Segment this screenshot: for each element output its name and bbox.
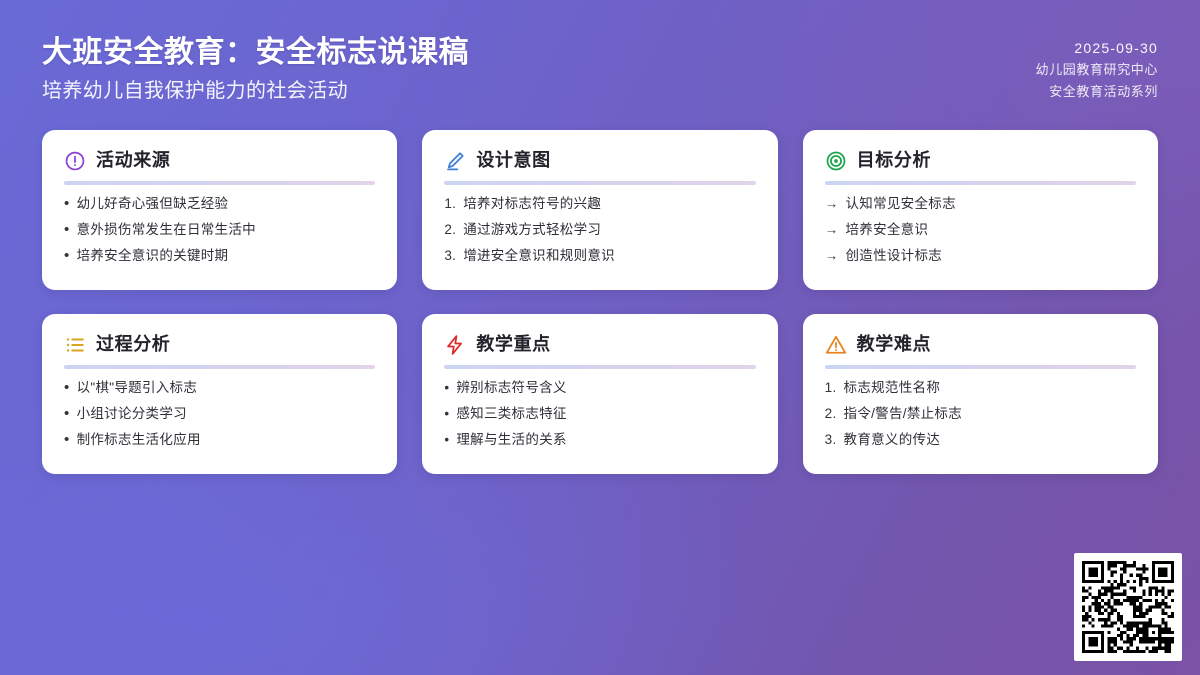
card-teaching-difficulty: 教学难点1.标志规范性名称2.指令/警告/禁止标志3.教育意义的传达 <box>803 314 1158 474</box>
list-item-text: 理解与生活的关系 <box>456 432 755 449</box>
list-item: 1.培养对标志符号的兴趣 <box>444 196 755 213</box>
card-divider <box>825 181 1136 185</box>
card-title: 目标分析 <box>857 151 931 171</box>
list-item-marker: • <box>444 432 449 449</box>
list-item-text: 培养对标志符号的兴趣 <box>463 196 755 213</box>
list-item-text: 教育意义的传达 <box>844 432 1136 449</box>
list-item-text: 小组讨论分类学习 <box>77 406 376 423</box>
list-item-text: 创造性设计标志 <box>845 248 1136 265</box>
list-item: •小组讨论分类学习 <box>64 406 375 423</box>
card-header: 过程分析 <box>64 334 375 356</box>
list-item-marker: • <box>64 380 70 395</box>
card-title: 活动来源 <box>96 151 170 171</box>
header-date: 2025-09-30 <box>1036 40 1158 56</box>
list-item-marker: • <box>64 432 70 447</box>
list-item-marker: 3. <box>444 248 456 265</box>
card-goal-analysis: 目标分析→认知常见安全标志→培养安全意识→创造性设计标志 <box>803 130 1158 290</box>
list-item-text: 增进安全意识和规则意识 <box>463 248 755 265</box>
card-activity-source: 活动来源•幼儿好奇心强但缺乏经验•意外损伤常发生在日常生活中•培养安全意识的关键… <box>42 130 397 290</box>
list-item-marker: 1. <box>825 380 837 397</box>
list-item: •以"棋"导题引入标志 <box>64 380 375 397</box>
list-item-text: 培养安全意识 <box>845 222 1136 239</box>
header-meta-block: 2025-09-30 幼儿园教育研究中心 安全教育活动系列 <box>1036 34 1158 100</box>
list-item-text: 指令/警告/禁止标志 <box>844 406 1136 423</box>
pencil-edit-icon <box>444 150 466 172</box>
card-divider <box>444 181 755 185</box>
list-item-text: 标志规范性名称 <box>844 380 1136 397</box>
card-list: 1.标志规范性名称2.指令/警告/禁止标志3.教育意义的传达 <box>825 380 1136 449</box>
list-item-text: 感知三类标志特征 <box>456 406 755 423</box>
list-item: 2.指令/警告/禁止标志 <box>825 406 1136 423</box>
card-divider <box>444 365 755 369</box>
header-organization: 幼儿园教育研究中心 <box>1036 59 1158 78</box>
list-item: •感知三类标志特征 <box>444 406 755 423</box>
target-bullseye-icon <box>825 150 847 172</box>
list-item-text: 意外损伤常发生在日常生活中 <box>77 222 376 239</box>
slide-header: 大班安全教育：安全标志说课稿 培养幼儿自我保护能力的社会活动 2025-09-3… <box>0 0 1200 104</box>
list-item: 2.通过游戏方式轻松学习 <box>444 222 755 239</box>
list-item-marker: 1. <box>444 196 456 213</box>
qr-code[interactable] <box>1074 553 1182 661</box>
list-item-text: 幼儿好奇心强但缺乏经验 <box>77 196 376 213</box>
page-title: 大班安全教育：安全标志说课稿 <box>42 34 469 72</box>
list-item: •制作标志生活化应用 <box>64 432 375 449</box>
page-subtitle: 培养幼儿自我保护能力的社会活动 <box>42 78 469 104</box>
card-header: 教学重点 <box>444 334 755 356</box>
list-item-text: 通过游戏方式轻松学习 <box>463 222 755 239</box>
header-series: 安全教育活动系列 <box>1036 81 1158 100</box>
list-item-marker: → <box>825 196 839 213</box>
list-item-text: 认知常见安全标志 <box>845 196 1136 213</box>
list-item-marker: • <box>64 248 70 263</box>
list-item-marker: 2. <box>825 406 837 423</box>
header-title-block: 大班安全教育：安全标志说课稿 培养幼儿自我保护能力的社会活动 <box>42 34 469 104</box>
card-list: →认知常见安全标志→培养安全意识→创造性设计标志 <box>825 196 1136 265</box>
list-item-marker: → <box>825 248 839 265</box>
card-list: •以"棋"导题引入标志•小组讨论分类学习•制作标志生活化应用 <box>64 380 375 449</box>
warning-triangle-icon <box>825 334 847 356</box>
list-item-text: 辨别标志符号含义 <box>456 380 755 397</box>
list-item: 3.增进安全意识和规则意识 <box>444 248 755 265</box>
card-header: 设计意图 <box>444 150 755 172</box>
card-divider <box>64 365 375 369</box>
list-item: •培养安全意识的关键时期 <box>64 248 375 265</box>
list-item-marker: • <box>444 380 449 397</box>
list-item-marker: • <box>64 196 70 211</box>
list-item: →创造性设计标志 <box>825 248 1136 265</box>
list-item-text: 培养安全意识的关键时期 <box>77 248 376 265</box>
list-item-marker: • <box>64 406 70 421</box>
card-list: •辨别标志符号含义•感知三类标志特征•理解与生活的关系 <box>444 380 755 449</box>
list-item: •理解与生活的关系 <box>444 432 755 449</box>
list-item: •辨别标志符号含义 <box>444 380 755 397</box>
card-design-intent: 设计意图1.培养对标志符号的兴趣2.通过游戏方式轻松学习3.增进安全意识和规则意… <box>422 130 777 290</box>
card-title: 教学重点 <box>476 335 550 355</box>
list-item: →培养安全意识 <box>825 222 1136 239</box>
list-item-marker: • <box>64 222 70 237</box>
card-header: 活动来源 <box>64 150 375 172</box>
qr-code-image <box>1082 561 1174 653</box>
list-lines-icon <box>64 334 86 356</box>
card-title: 设计意图 <box>476 151 550 171</box>
card-header: 目标分析 <box>825 150 1136 172</box>
list-item-text: 以"棋"导题引入标志 <box>77 380 376 397</box>
card-header: 教学难点 <box>825 334 1136 356</box>
card-list: 1.培养对标志符号的兴趣2.通过游戏方式轻松学习3.增进安全意识和规则意识 <box>444 196 755 265</box>
lightning-bolt-icon <box>444 334 466 356</box>
list-item-text: 制作标志生活化应用 <box>77 432 376 449</box>
card-list: •幼儿好奇心强但缺乏经验•意外损伤常发生在日常生活中•培养安全意识的关键时期 <box>64 196 375 265</box>
list-item: •幼儿好奇心强但缺乏经验 <box>64 196 375 213</box>
exclamation-circle-icon <box>64 150 86 172</box>
card-teaching-focus: 教学重点•辨别标志符号含义•感知三类标志特征•理解与生活的关系 <box>422 314 777 474</box>
card-divider <box>825 365 1136 369</box>
list-item: •意外损伤常发生在日常生活中 <box>64 222 375 239</box>
list-item: 3.教育意义的传达 <box>825 432 1136 449</box>
list-item-marker: → <box>825 222 839 239</box>
list-item-marker: 3. <box>825 432 837 449</box>
list-item-marker: 2. <box>444 222 456 239</box>
list-item-marker: • <box>444 406 449 423</box>
card-title: 过程分析 <box>96 335 170 355</box>
content-card-grid: 活动来源•幼儿好奇心强但缺乏经验•意外损伤常发生在日常生活中•培养安全意识的关键… <box>42 130 1158 474</box>
card-title: 教学难点 <box>857 335 931 355</box>
card-process-analysis: 过程分析•以"棋"导题引入标志•小组讨论分类学习•制作标志生活化应用 <box>42 314 397 474</box>
list-item: →认知常见安全标志 <box>825 196 1136 213</box>
list-item: 1.标志规范性名称 <box>825 380 1136 397</box>
card-divider <box>64 181 375 185</box>
